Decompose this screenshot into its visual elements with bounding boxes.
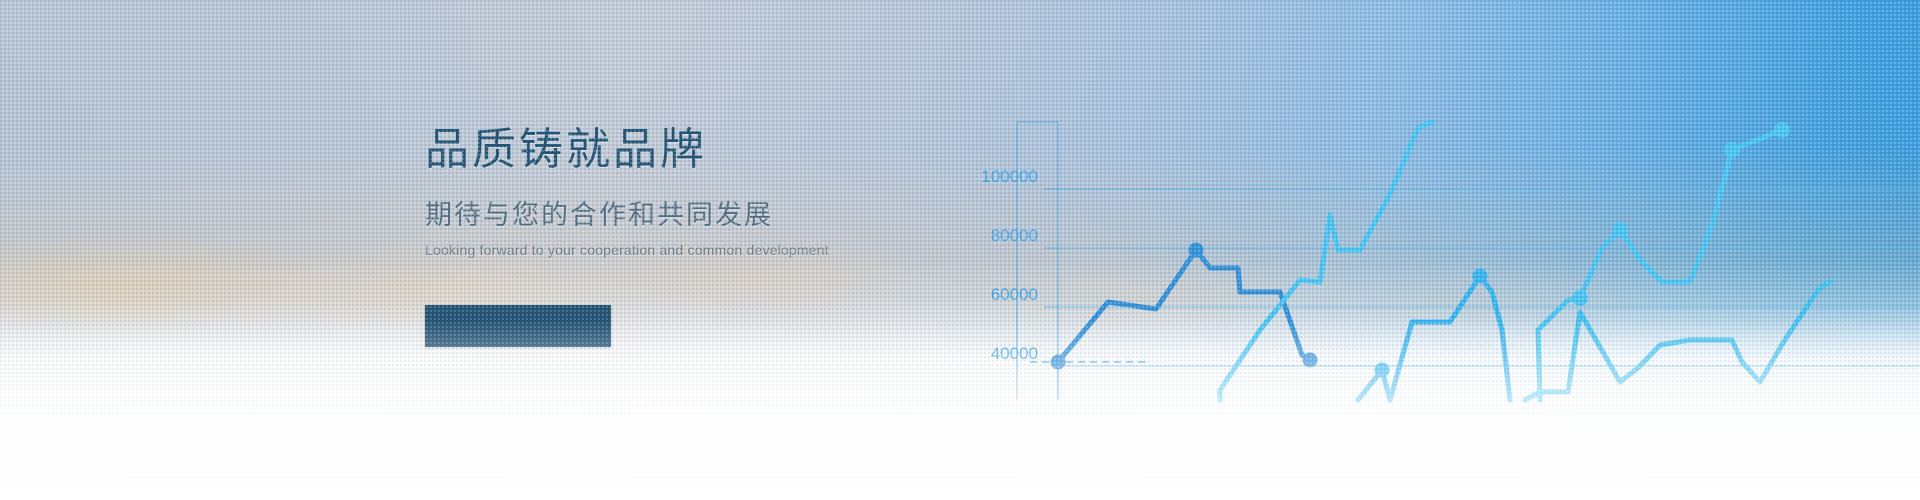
hero-copy: 品质铸就品牌 期待与您的合作和共同发展 Looking forward to y… xyxy=(425,128,895,257)
hero-banner: 100000 80000 60000 40000 xyxy=(0,0,1920,500)
statistics-chart: 100000 80000 60000 40000 xyxy=(920,0,1920,500)
series-1-marker-peak xyxy=(1189,243,1204,258)
cta-button[interactable] xyxy=(425,305,611,347)
series-3-marker-a xyxy=(1572,290,1588,306)
series-3-marker-d xyxy=(1774,122,1790,138)
series-3-marker-c xyxy=(1724,142,1740,158)
page-subtitle: 期待与您的合作和共同发展 xyxy=(425,202,895,229)
series-3-marker-b xyxy=(1612,222,1628,238)
y-tick-label-60000: 60000 xyxy=(991,285,1038,304)
series-2-marker-peak xyxy=(1473,269,1488,284)
series-1-line xyxy=(1058,250,1310,362)
y-tick-label-40000: 40000 xyxy=(991,344,1038,363)
page-subtitle-english: Looking forward to your cooperation and … xyxy=(425,243,895,257)
series-2-line xyxy=(1358,276,1510,400)
series-1-marker-end xyxy=(1303,353,1318,368)
series-3-group xyxy=(1538,122,1790,400)
y-tick-label-100000: 100000 xyxy=(981,167,1038,186)
gridlines xyxy=(1058,189,1920,366)
chart-svg: 100000 80000 60000 40000 xyxy=(920,0,1920,500)
page-title: 品质铸就品牌 xyxy=(425,128,895,172)
series-1-marker-start xyxy=(1051,355,1066,370)
series-2-marker-low xyxy=(1375,363,1390,378)
y-tick-label-80000: 80000 xyxy=(991,226,1038,245)
